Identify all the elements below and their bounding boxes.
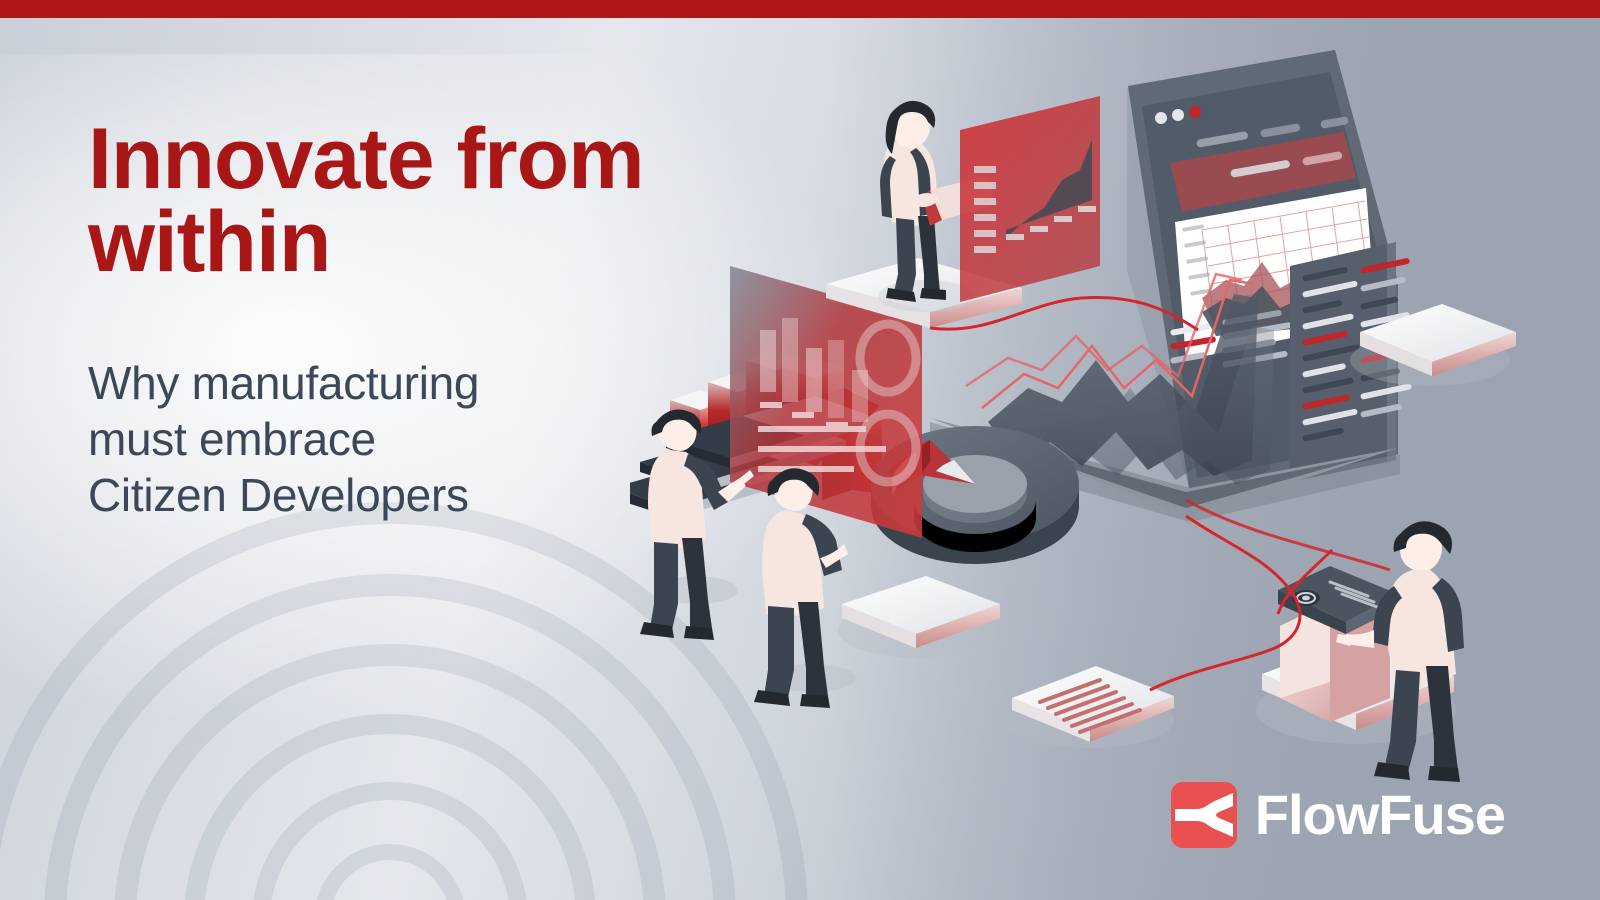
headline-line-1: Innovate from	[88, 118, 788, 201]
subhead-line-1: Why manufacturing	[88, 355, 688, 411]
headline-line-2: within	[88, 201, 788, 284]
top-accent-bar	[0, 0, 1600, 18]
flowfuse-wordmark: FlowFuse	[1255, 787, 1505, 843]
flowfuse-logo[interactable]: FlowFuse	[1171, 782, 1505, 848]
page-subtitle: Why manufacturing must embrace Citizen D…	[88, 355, 688, 523]
page-title: Innovate from within	[88, 118, 788, 283]
subhead-line-3: Citizen Developers	[88, 467, 688, 523]
window-dot-close	[1155, 112, 1167, 124]
window-dot-min	[1172, 109, 1184, 121]
subhead-line-2: must embrace	[88, 411, 688, 467]
flowfuse-merge-icon	[1171, 782, 1237, 848]
window-dot-max	[1189, 106, 1201, 118]
empty-platform-tile-left	[838, 576, 1000, 658]
red-area-chart-screen	[960, 96, 1100, 302]
document-tile	[1006, 666, 1174, 748]
poster-canvas: Innovate from within Why manufacturing m…	[0, 0, 1600, 900]
